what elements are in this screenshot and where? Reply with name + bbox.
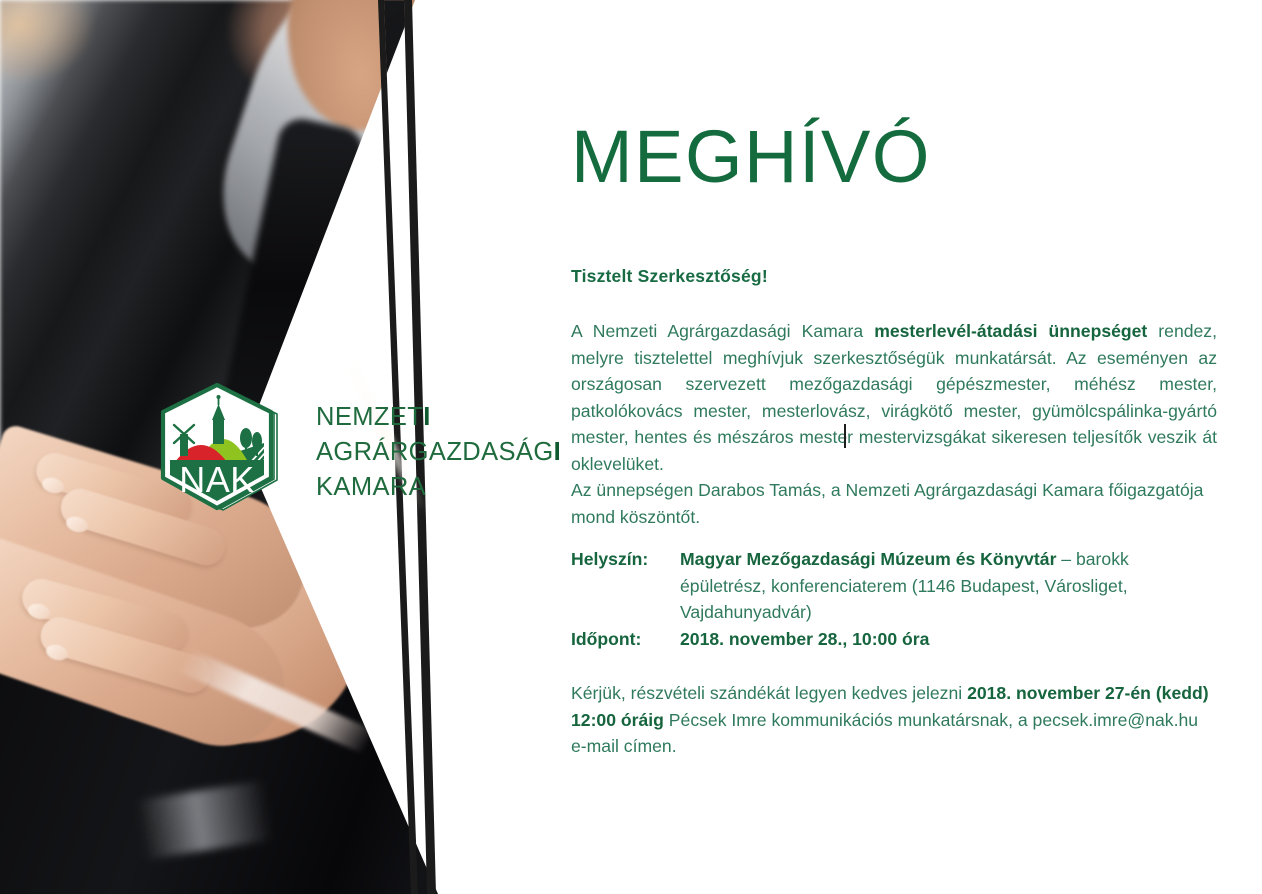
- paragraph-1: A Nemzeti Agrárgazdasági Kamara mesterle…: [571, 318, 1217, 477]
- venue-value: Magyar Mezőgazdasági Múzeum és Könyvtár …: [680, 546, 1217, 626]
- org-line-1-text: NEMZET: [316, 403, 423, 431]
- datetime-label: Időpont:: [571, 626, 680, 653]
- rsvp-part2: Pécsek Imre kommunikációs munkatársnak, …: [571, 710, 1198, 757]
- svg-text:NAK: NAK: [179, 459, 255, 500]
- paragraph-2: Az ünnepségen Darabos Tamás, a Nemzeti A…: [571, 477, 1217, 530]
- org-line-3-text: KAMARA: [316, 473, 426, 501]
- org-line-2: AGRÁRGAZDASÁGI: [316, 435, 561, 470]
- org-line-3: KAMARA: [316, 470, 561, 505]
- event-details: Helyszín: Magyar Mezőgazdasági Múzeum és…: [571, 546, 1217, 652]
- datetime-value: 2018. november 28., 10:00 óra: [680, 626, 1217, 653]
- paragraph-1-part1: A Nemzeti Agrárgazdasági Kamara: [571, 321, 874, 341]
- org-line-2-tail: I: [554, 438, 562, 466]
- venue-label: Helyszín:: [571, 546, 680, 573]
- invitation-content: MEGHÍVÓ Tisztelt Szerkesztőség! A Nemzet…: [571, 0, 1219, 894]
- paragraph-1-emphasis: mesterlevél-átadási ünnepséget: [874, 321, 1147, 341]
- nak-hexagon-logo-icon: NAK: [145, 378, 289, 522]
- detail-row-datetime: Időpont: 2018. november 28., 10:00 óra: [571, 626, 1217, 653]
- org-line-2-text: AGRÁRGAZDASÁG: [316, 438, 554, 466]
- salutation: Tisztelt Szerkesztőség!: [571, 266, 768, 287]
- rsvp-part1: Kérjük, részvételi szándékát legyen kedv…: [571, 683, 967, 703]
- detail-row-venue: Helyszín: Magyar Mezőgazdasági Múzeum és…: [571, 546, 1217, 626]
- rsvp-paragraph: Kérjük, részvételi szándékát legyen kedv…: [571, 680, 1217, 760]
- paragraph-1-part2: rendez, melyre tisztelettel meghívjuk sz…: [571, 321, 1217, 474]
- text-cursor-caret: [844, 424, 846, 448]
- page-title: MEGHÍVÓ: [571, 118, 931, 196]
- nak-logo: NAK NEMZETI AGRÁRGAZDASÁGI KAMARA: [145, 378, 545, 523]
- org-line-1: NEMZETI: [316, 400, 561, 435]
- org-line-1-tail: I: [423, 403, 431, 431]
- nak-organization-name: NEMZETI AGRÁRGAZDASÁGI KAMARA: [316, 400, 561, 505]
- invitation-body: A Nemzeti Agrárgazdasági Kamara mesterle…: [571, 318, 1217, 530]
- venue-name: Magyar Mezőgazdasági Múzeum és Könyvtár: [680, 549, 1056, 569]
- invitation-page: NAK NEMZETI AGRÁRGAZDASÁGI KAMARA MEGHÍV…: [0, 0, 1262, 894]
